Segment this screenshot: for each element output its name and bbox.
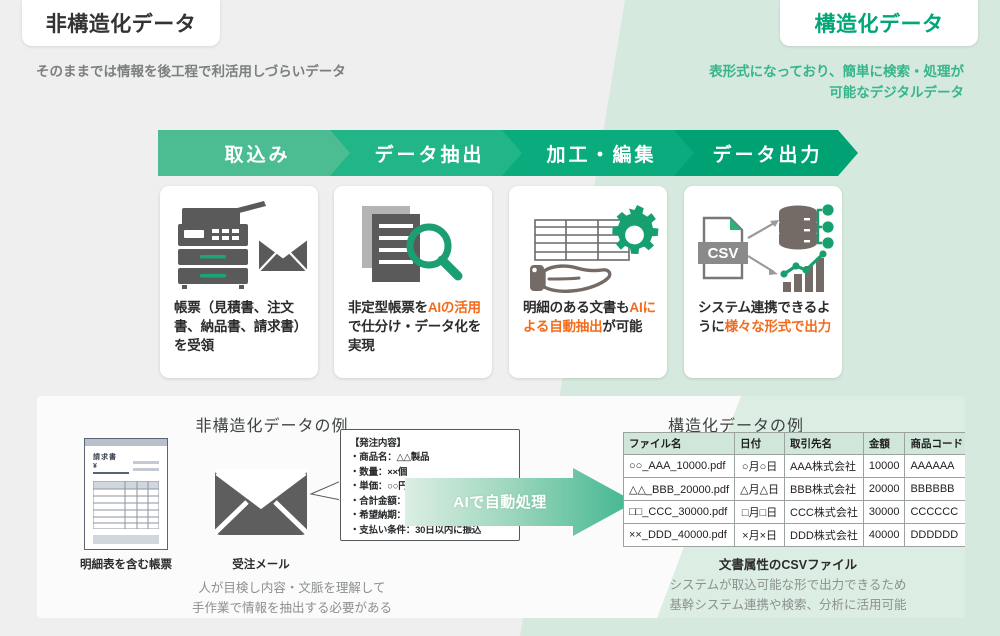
invoice-title-text: 請求書 [93, 452, 117, 462]
col-date: 日付 [735, 433, 785, 455]
cell-client: AAA株式会社 [785, 455, 864, 478]
cell-date: △月△日 [735, 478, 785, 501]
invoice-underline [93, 472, 129, 474]
bubble-line-1: ・商品名：△△製品 [350, 451, 520, 465]
ai-auto-process-arrow [405, 468, 635, 558]
cell-client: BBB株式会社 [785, 478, 864, 501]
cell-amount: 20000 [863, 478, 905, 501]
subhead-unstructured: そのままでは情報を後工程で利活用しづらいデータ [36, 62, 346, 83]
cell-filename: ××_DDD_40000.pdf [624, 524, 735, 547]
table-gear-hand-icon [509, 194, 667, 298]
invoice-amount-symbol: ¥ [93, 463, 97, 470]
step-card-output: CSV [684, 186, 842, 378]
order-mail-envelope-icon [215, 469, 307, 535]
step-card-autoextract: 明細のある文書もAIによる自動抽出が可能 [509, 186, 667, 378]
infographic-root: 非構造化データ 構造化データ そのままでは情報を後工程で利活用しづらいデータ 表… [0, 0, 1000, 636]
step-card-output-text: システム連携できるように様々な形式で出力 [698, 298, 832, 336]
invoice-meta-line-1 [133, 461, 159, 464]
card3-hl2: 出力 [804, 319, 831, 334]
cell-amount: 10000 [863, 455, 905, 478]
col-product-code: 商品コード [905, 433, 965, 455]
card0-line2: 書、納品書、請求書） [174, 319, 307, 334]
process-step-edit: 加工・編集 [502, 130, 698, 176]
card1-hl1: AIの [428, 300, 454, 315]
ai-auto-process-label: AIで自動処理 [430, 491, 570, 512]
csv-database-chart-icon: CSV [684, 194, 842, 298]
cell-amount: 30000 [863, 501, 905, 524]
table-row: □□_CCC_30000.pdf □月□日 CCC株式会社 30000 CCCC… [624, 501, 966, 524]
table-row: △△_BBB_20000.pdf △月△日 BBB株式会社 20000 BBBB… [624, 478, 966, 501]
bubble-tail [309, 481, 341, 501]
process-step-output-label: データ出力 [709, 140, 822, 167]
invoice-document-icon: 請求書 ¥ [84, 438, 168, 550]
col-amount: 金額 [863, 433, 905, 455]
process-step-edit-label: 加工・編集 [543, 140, 656, 167]
invoice-caption: 明細表を含む帳票 [64, 556, 188, 572]
comparison-panel: 非構造化データの例 構造化データの例 請求書 ¥ [37, 396, 965, 618]
manual-process-note: 人が目検し内容・文脈を理解して 手作業で情報を抽出する必要がある [82, 578, 502, 618]
invoice-meta-line-2 [133, 468, 159, 471]
card0-line1: 帳票（見積書、注文 [174, 300, 294, 315]
cell-filename: ○○_AAA_10000.pdf [624, 455, 735, 478]
cell-product-code: AAAAAA [905, 455, 965, 478]
order-mail-caption: 受注メール [203, 556, 319, 572]
col-client: 取引先名 [785, 433, 864, 455]
tab-structured-data: 構造化データ [780, 0, 978, 46]
invoice-total-bar [93, 535, 159, 544]
cell-product-code: CCCCCC [905, 501, 965, 524]
process-step-ingest-label: 取込み [221, 140, 290, 167]
tab-structured-label: 構造化データ [815, 8, 944, 38]
structured-data-table: ファイル名 日付 取引先名 金額 商品コード ○○_AAA_10000.pdf … [623, 432, 965, 547]
tab-unstructured-label: 非構造化データ [46, 8, 197, 38]
invoice-line-items-grid [93, 481, 159, 529]
csv-file-caption: 文書属性のCSVファイル [623, 554, 953, 573]
process-step-ingest: 取込み [158, 130, 354, 176]
manual-note-line2: 手作業で情報を抽出する必要がある [82, 598, 502, 618]
card3-pre1: システム連携できる [698, 300, 817, 315]
process-step-extract: データ抽出 [330, 130, 526, 176]
cell-client: DDD株式会社 [785, 524, 864, 547]
svg-text:CSV: CSV [708, 245, 739, 262]
structured-benefit-note: システムが取込可能な形で出力できるため 基幹システム連携や検索、分析に活用可能 [603, 575, 965, 615]
cell-filename: △△_BBB_20000.pdf [624, 478, 735, 501]
subhead-structured: 表形式になっており、簡単に検索・処理が 可能なデジタルデータ [709, 62, 964, 104]
card1-hl2: 活用 [454, 300, 481, 315]
subhead-structured-line1: 表形式になっており、簡単に検索・処理が [709, 62, 964, 83]
cell-amount: 40000 [863, 524, 905, 547]
step-card-autoextract-text: 明細のある文書もAIによる自動抽出が可能 [523, 298, 657, 336]
card2-post1: が可能 [602, 319, 642, 334]
col-filename: ファイル名 [624, 433, 735, 455]
cell-date: ×月×日 [735, 524, 785, 547]
printer-and-envelope-icon [160, 194, 318, 298]
invoice-top-bar [85, 439, 167, 446]
table-row: ○○_AAA_10000.pdf ○月○日 AAA株式会社 10000 AAAA… [624, 455, 966, 478]
manual-note-line1: 人が目検し内容・文脈を理解して [82, 578, 502, 598]
cell-product-code: BBBBBB [905, 478, 965, 501]
card1-post1: で仕分け・デー [348, 319, 441, 334]
table-row: ××_DDD_40000.pdf ×月×日 DDD株式会社 40000 DDDD… [624, 524, 966, 547]
process-step-output: データ出力 [674, 130, 858, 176]
documents-magnifier-icon [334, 194, 492, 298]
cell-product-code: DDDDDD [905, 524, 965, 547]
subhead-structured-line2: 可能なデジタルデータ [709, 83, 964, 104]
step-card-classify: 非定型帳票をAIの活用で仕分け・データ化を実現 [334, 186, 492, 378]
table-header-row: ファイル名 日付 取引先名 金額 商品コード [624, 433, 966, 455]
cell-date: ○月○日 [735, 455, 785, 478]
step-card-classify-text: 非定型帳票をAIの活用で仕分け・データ化を実現 [348, 298, 482, 355]
card0-line3: を受領 [174, 338, 214, 353]
step-card-receive: 帳票（見積書、注文書、納品書、請求書）を受領 [160, 186, 318, 378]
process-step-extract-label: データ抽出 [371, 140, 484, 167]
bubble-line-0: 【発注内容】 [350, 437, 520, 451]
cell-date: □月□日 [735, 501, 785, 524]
cell-filename: □□_CCC_30000.pdf [624, 501, 735, 524]
step-card-receive-text: 帳票（見積書、注文書、納品書、請求書）を受領 [174, 298, 308, 355]
process-flow-bar: 取込み データ抽出 加工・編集 データ出力 [158, 130, 858, 176]
card1-pre1: 非定型帳票を [348, 300, 428, 315]
benefit-note-line1: システムが取込可能な形で出力できるため [603, 575, 965, 595]
benefit-note-line2: 基幹システム連携や検索、分析に活用可能 [603, 595, 965, 615]
cell-client: CCC株式会社 [785, 501, 864, 524]
card2-pre1: 明細のある文書も [523, 300, 629, 315]
tab-unstructured-data: 非構造化データ [22, 0, 220, 46]
card3-hl1: 様々な形式で [725, 319, 805, 334]
